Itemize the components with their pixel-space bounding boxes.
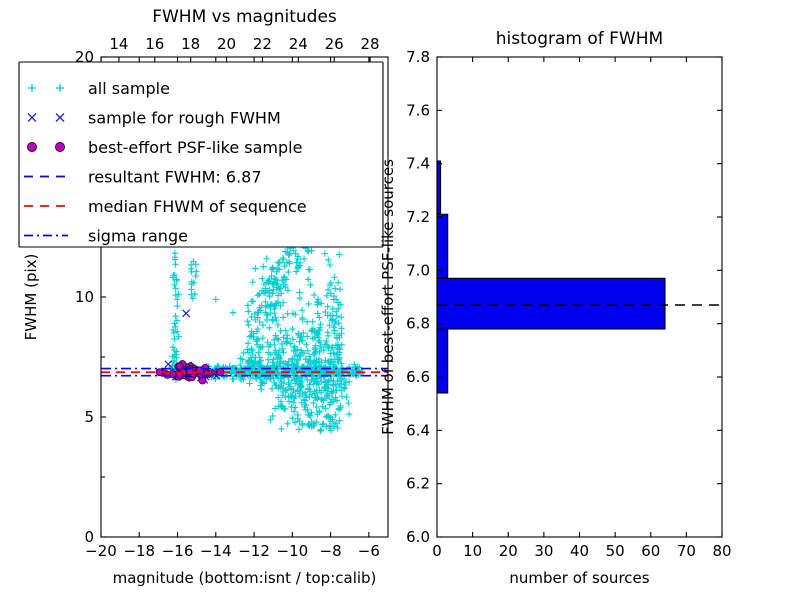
left-panel-title: FWHM vs magnitudes [152,7,337,27]
legend-marker-dot-icon [55,142,64,151]
legend-marker-dot-icon [27,142,36,151]
right-xtick-label: 0 [432,542,442,560]
left-ytick-label: 5 [84,408,94,426]
right-ytick-label: 7.2 [406,208,430,226]
right-xtick-label: 40 [570,542,589,560]
right-xtick-label: 10 [463,542,482,560]
right-xtick-label: 50 [606,542,625,560]
legend-item-label: median FHWM of sequence [88,197,307,216]
right-ytick-label: 7.4 [406,155,430,173]
top-xtick-label: 18 [181,35,200,53]
top-xtick-label: 28 [361,35,380,53]
legend-item-label: sigma range [88,227,188,246]
right-ytick-label: 6.2 [406,475,430,493]
left-xtick-label: −10 [277,542,309,560]
right-xtick-label: 80 [712,542,731,560]
histogram-bar[interactable] [437,214,448,278]
left-xtick-label: −18 [123,542,155,560]
right-ytick-label: 6.8 [406,315,430,333]
left-xtick-label: −16 [162,542,194,560]
right-xtick-label: 30 [534,542,553,560]
top-xtick-label: 20 [217,35,236,53]
matplotlib-figure: −20−18−16−14−12−10−8−6141618202224262805… [0,0,800,600]
top-xtick-label: 22 [253,35,272,53]
top-xtick-label: 14 [109,35,128,53]
left-xtick-label: −8 [320,542,342,560]
top-xtick-label: 26 [325,35,344,53]
histogram-bar[interactable] [437,278,665,329]
left-ytick-label: 0 [84,528,94,546]
left-xtick-label: −14 [200,542,232,560]
right-xtick-label: 20 [499,542,518,560]
left-xtick-label: −12 [238,542,270,560]
histogram-bar[interactable] [437,329,448,393]
legend-item-label: best-effort PSF-like sample [88,138,302,157]
right-ytick-label: 7.6 [406,101,430,119]
right-panel-title: histogram of FWHM [496,29,663,49]
right-ytick-label: 6.4 [406,421,430,439]
left-yaxis-label: FWHM (pix) [22,254,40,341]
right-xaxis-label: number of sources [509,569,649,587]
legend[interactable]: all samplesample for rough FWHMbest-effo… [19,62,383,247]
left-xaxis-label: magnitude (bottom:isnt / top:calib) [113,569,377,587]
legend-item-label: resultant FWHM: 6.87 [88,168,262,187]
top-xtick-label: 16 [145,35,164,53]
figure-canvas: −20−18−16−14−12−10−8−6141618202224262805… [0,0,800,600]
right-xtick-label: 70 [677,542,696,560]
right-ytick-label: 7.8 [406,48,430,66]
top-xtick-label: 24 [289,35,308,53]
right-ytick-label: 6.0 [406,528,430,546]
right-ytick-label: 6.6 [406,368,430,386]
legend-item-label: sample for rough FWHM [88,109,281,128]
left-ytick-label: 10 [75,288,94,306]
right-yaxis-label: FWHM of best-effort PSF-like sources [379,159,397,435]
legend-item-label: all sample [88,79,170,98]
right-ytick-label: 7.0 [406,261,430,279]
left-xtick-label: −6 [358,542,380,560]
right-xtick-label: 60 [641,542,660,560]
